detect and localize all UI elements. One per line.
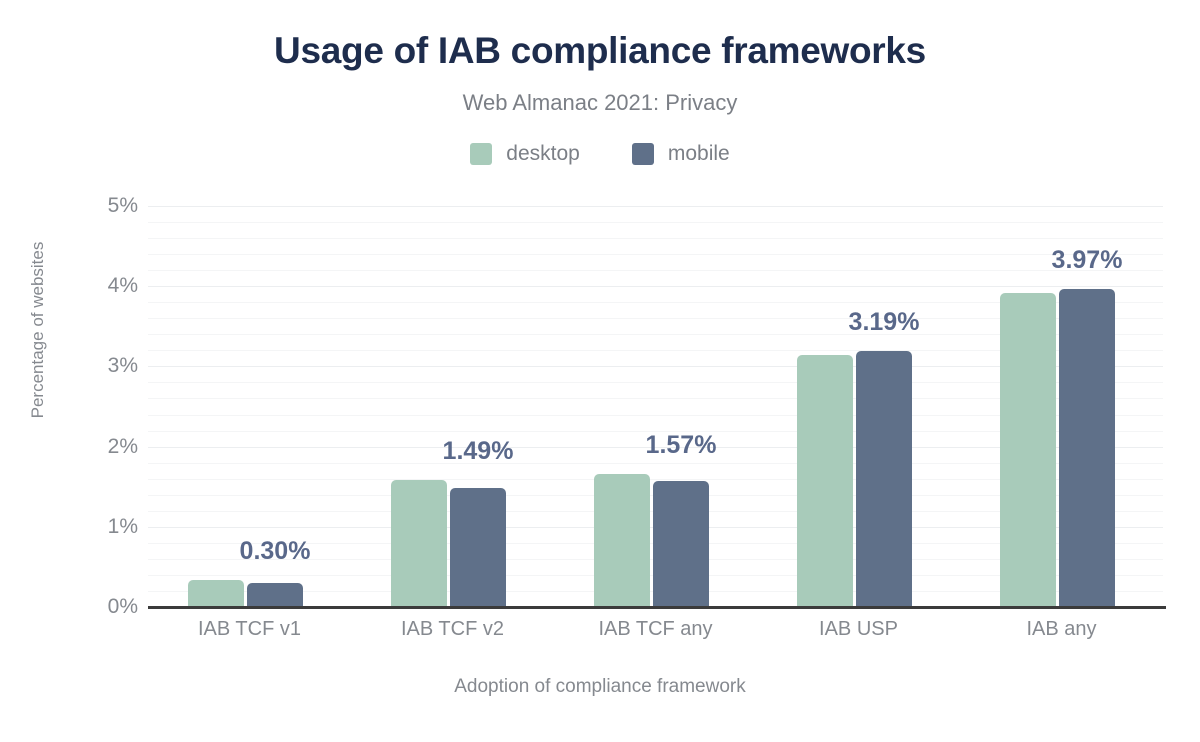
bar-group: 3.19% bbox=[757, 206, 960, 607]
bar-mobile[interactable] bbox=[450, 488, 506, 607]
bar-mobile[interactable] bbox=[856, 351, 912, 607]
bar-mobile[interactable] bbox=[653, 481, 709, 607]
x-axis-tick-label: IAB any bbox=[952, 618, 1172, 641]
y-axis-tick-label: 0% bbox=[28, 595, 138, 619]
bar-group: 1.57% bbox=[554, 206, 757, 607]
bar-chart: Usage of IAB compliance frameworks Web A… bbox=[0, 0, 1200, 742]
x-axis-title: Adoption of compliance framework bbox=[0, 676, 1200, 698]
bar-group: 1.49% bbox=[351, 206, 554, 607]
x-axis-tick-label: IAB TCF v1 bbox=[140, 618, 360, 641]
y-axis-tick-label: 5% bbox=[28, 194, 138, 218]
bar-mobile[interactable] bbox=[247, 583, 303, 607]
bar-group: 3.97% bbox=[960, 206, 1163, 607]
y-axis-tick-label: 2% bbox=[28, 435, 138, 459]
bar-group: 0.30% bbox=[148, 206, 351, 607]
x-axis-line bbox=[148, 606, 1166, 609]
bar-desktop[interactable] bbox=[391, 480, 447, 607]
bar-value-label: 3.97% bbox=[987, 246, 1187, 275]
bar-desktop[interactable] bbox=[594, 474, 650, 607]
bar-value-label: 1.57% bbox=[581, 431, 781, 460]
legend-swatch-desktop bbox=[470, 143, 492, 165]
legend-item-mobile[interactable]: mobile bbox=[632, 142, 730, 166]
legend-swatch-mobile bbox=[632, 143, 654, 165]
chart-subtitle: Web Almanac 2021: Privacy bbox=[0, 90, 1200, 116]
bar-value-label: 3.19% bbox=[784, 308, 984, 337]
y-axis-tick-label: 1% bbox=[28, 515, 138, 539]
legend-label-desktop: desktop bbox=[506, 142, 580, 166]
x-axis-tick-label: IAB TCF any bbox=[546, 618, 766, 641]
y-axis-tick-label: 3% bbox=[28, 354, 138, 378]
bar-value-label: 0.30% bbox=[175, 537, 375, 566]
bar-desktop[interactable] bbox=[797, 355, 853, 607]
bar-mobile[interactable] bbox=[1059, 289, 1115, 607]
chart-title: Usage of IAB compliance frameworks bbox=[0, 30, 1200, 72]
bar-value-label: 1.49% bbox=[378, 437, 578, 466]
bar-desktop[interactable] bbox=[188, 580, 244, 607]
chart-legend: desktop mobile bbox=[0, 142, 1200, 166]
legend-item-desktop[interactable]: desktop bbox=[470, 142, 580, 166]
x-axis-tick-label: IAB USP bbox=[749, 618, 969, 641]
bar-desktop[interactable] bbox=[1000, 293, 1056, 607]
plot-area: 0.30%1.49%1.57%3.19%3.97% bbox=[148, 206, 1163, 607]
legend-label-mobile: mobile bbox=[668, 142, 730, 166]
y-axis-tick-label: 4% bbox=[28, 274, 138, 298]
x-axis-tick-label: IAB TCF v2 bbox=[343, 618, 563, 641]
